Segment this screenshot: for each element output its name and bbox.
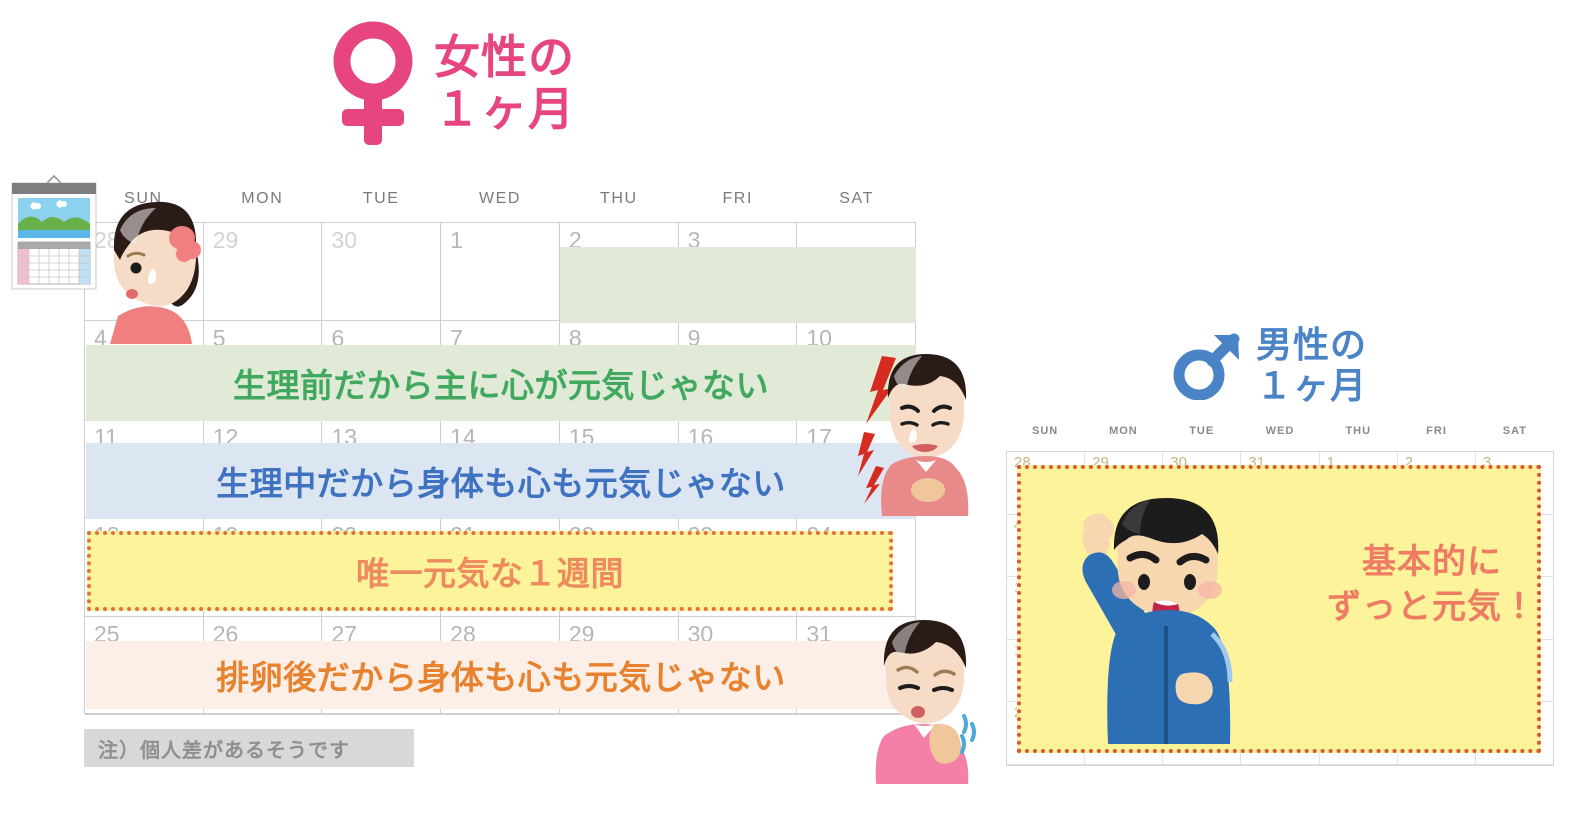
female-section-header: 女性の １ヶ月 <box>330 14 660 154</box>
dow-sun: SUN <box>1006 425 1084 451</box>
calendar-day-cell: 30 <box>322 223 441 320</box>
female-title-line2: １ヶ月 <box>434 84 575 136</box>
male-band-label-line2: ずっと元気！ <box>1327 585 1537 630</box>
female-calendar-grid: 28 29 30 1 2 3 4 5 6 7 8 9 10 11 12 13 <box>84 222 916 714</box>
male-section-title: 男性の １ヶ月 <box>1256 324 1367 406</box>
male-section-header: 男性の １ヶ月 <box>1172 315 1472 415</box>
dow-thu: THU <box>559 190 678 222</box>
dow-fri: FRI <box>1397 425 1475 451</box>
male-title-line2: １ヶ月 <box>1256 365 1367 406</box>
male-band-label: 基本的に ずっと元気！ <box>1327 540 1537 630</box>
calendar-day-cell: 1 <box>441 223 560 320</box>
dow-sat: SAT <box>1476 425 1554 451</box>
day-number: 29 <box>213 227 239 254</box>
menstrual-label: 生理中だから身体も心も元気じゃない <box>216 457 786 505</box>
dow-wed: WED <box>1241 425 1319 451</box>
dow-tue: TUE <box>322 190 441 222</box>
cheerful-man-illustration <box>1062 494 1268 744</box>
worried-girl-illustration <box>96 196 208 344</box>
good-week-band: 唯一元気な１週間 <box>87 531 893 611</box>
male-gender-icon <box>1172 330 1242 400</box>
wall-calendar-illustration <box>8 172 100 292</box>
calendar-day-cell: 29 <box>204 223 323 320</box>
footnote-banner: 注）個人差があるそうです <box>84 729 414 767</box>
female-calendar-dow-row: SUN MON TUE WED THU FRI SAT <box>84 190 916 222</box>
day-number: 1 <box>450 227 463 254</box>
dow-mon: MON <box>1084 425 1162 451</box>
female-section-title: 女性の １ヶ月 <box>434 32 575 135</box>
footnote-text: 注）個人差があるそうです <box>98 734 350 763</box>
dow-mon: MON <box>203 190 322 222</box>
infographic-canvas: 女性の １ヶ月 SUN MON TUE WED THU FRI SAT 28 2… <box>0 0 1574 828</box>
dow-wed: WED <box>441 190 560 222</box>
girl-with-cramps-illustration <box>858 346 976 516</box>
dow-sat: SAT <box>797 190 916 222</box>
post-ovulation-band: 排卵後だから身体も心も元気じゃない <box>86 641 916 709</box>
premenstrual-band-week1 <box>560 247 916 323</box>
menstrual-band: 生理中だから身体も心も元気じゃない <box>86 443 916 519</box>
female-title-line1: 女性の <box>434 31 575 83</box>
post-ovulation-label: 排卵後だから身体も心も元気じゃない <box>216 651 786 699</box>
dow-thu: THU <box>1319 425 1397 451</box>
dow-tue: TUE <box>1163 425 1241 451</box>
female-calendar: SUN MON TUE WED THU FRI SAT 28 29 30 1 2… <box>84 190 916 715</box>
good-week-label: 唯一元気な１週間 <box>356 547 624 595</box>
premenstrual-band: 生理前だから主に心が元気じゃない <box>86 345 916 421</box>
dow-fri: FRI <box>678 190 797 222</box>
male-band-label-line1: 基本的に <box>1362 543 1502 581</box>
tired-girl-illustration <box>858 612 980 784</box>
premenstrual-label: 生理前だから主に心が元気じゃない <box>233 359 769 407</box>
male-title-line1: 男性の <box>1256 324 1367 365</box>
female-gender-icon <box>330 21 416 147</box>
male-calendar-dow-row: SUN MON TUE WED THU FRI SAT <box>1006 425 1554 451</box>
day-number: 30 <box>331 227 357 254</box>
